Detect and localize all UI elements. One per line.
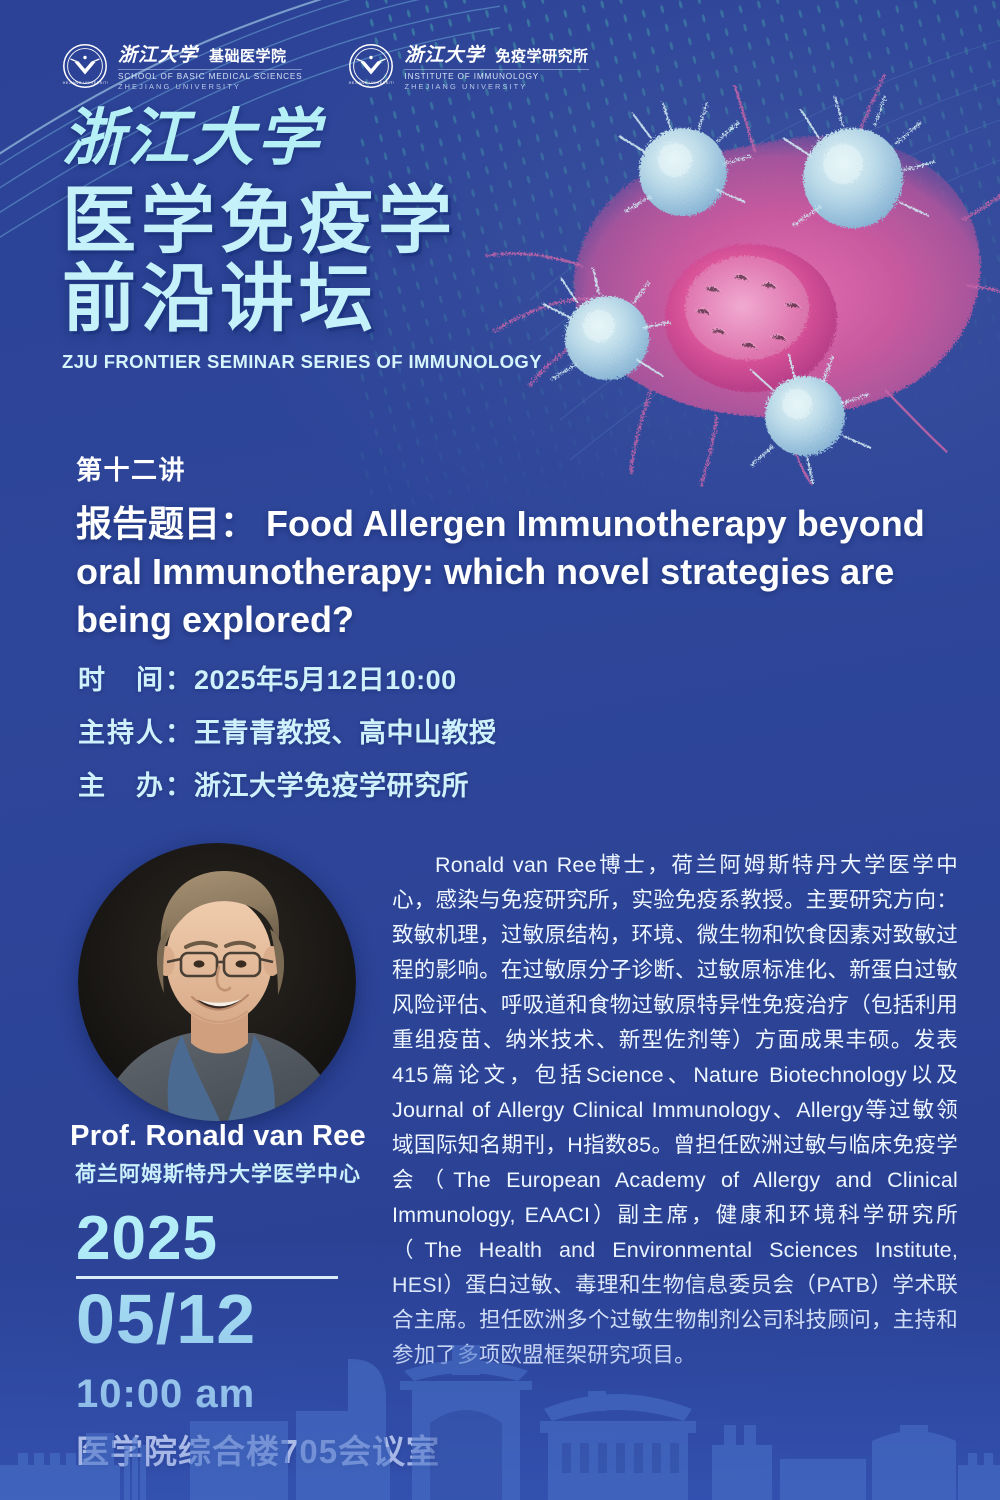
logo-zju-cn: 浙江大学 (404, 40, 484, 67)
lecture-topic: 报告题目： Food Allergen Immunotherapy beyond… (76, 500, 956, 644)
immune-cell-sem-image (455, 60, 1000, 490)
date-divider (76, 1276, 338, 1279)
logo-unit-cn: 基础医学院 (209, 45, 287, 66)
event-meta-list: 时 间： 2025年5月12日10:00 主持人： 王青青教授、高中山教授 主 … (78, 658, 497, 817)
svg-text:ZHEJIANG UNIVERSITY: ZHEJIANG UNIVERSITY (62, 81, 108, 85)
meta-value-organizer: 浙江大学免疫学研究所 (194, 764, 469, 803)
logo-zju-cn: 浙江大学 (118, 40, 198, 67)
header-logo-bar: ZHEJIANG UNIVERSITY 浙江大学 基础医学院 SCHOOL OF… (62, 40, 589, 91)
meta-label-time: 时 间： (78, 658, 194, 697)
svg-text:ZHEJIANG UNIVERSITY: ZHEJIANG UNIVERSITY (348, 81, 394, 85)
brand-title-block: 浙江大学 医学免疫学 前沿讲坛 ZJU FRONTIER SEMINAR SER… (62, 108, 532, 373)
brand-english-subtitle: ZJU FRONTIER SEMINAR SERIES OF IMMUNOLOG… (62, 351, 532, 373)
event-month-day: 05/12 (76, 1283, 338, 1357)
brand-script-zju: 浙江大学 (62, 108, 532, 170)
logo-en-line2: ZHEJIANG UNIVERSITY (118, 82, 302, 91)
logo-en-line2: ZHEJIANG UNIVERSITY (404, 82, 588, 91)
event-date-block: 2025 05/12 (76, 1208, 338, 1357)
brand-main-line1: 医学免疫学 (62, 182, 532, 260)
speaker-portrait (78, 843, 356, 1121)
logo-en-line1: SCHOOL OF BASIC MEDICAL SCIENCES (118, 69, 302, 81)
speaker-photo-wrap (78, 843, 356, 1121)
logo-institute-of-immunology: ZHEJIANG UNIVERSITY 浙江大学 免疫学研究所 INSTITUT… (348, 40, 588, 91)
lecture-number-label: 第十二讲 (76, 450, 186, 487)
meta-value-host: 王青青教授、高中山教授 (194, 711, 497, 750)
meta-value-time: 2025年5月12日10:00 (194, 658, 457, 697)
meta-row-host: 主持人： 王青青教授、高中山教授 (78, 711, 497, 750)
brand-main-line2: 前沿讲坛 (62, 260, 532, 338)
speaker-bio: Ronald van Ree博士，荷兰阿姆斯特丹大学医学中心，感染与免疫研究所，… (392, 848, 958, 1373)
event-year: 2025 (76, 1208, 338, 1270)
speaker-affiliation: 荷兰阿姆斯特丹大学医学中心 (48, 1158, 388, 1188)
zju-seal-icon: ZHEJIANG UNIVERSITY (62, 43, 108, 89)
meta-row-time: 时 间： 2025年5月12日10:00 (78, 658, 497, 697)
poster-root: ZHEJIANG UNIVERSITY 浙江大学 基础医学院 SCHOOL OF… (0, 0, 1000, 1500)
meta-label-organizer: 主 办： (78, 764, 194, 803)
event-venue: 医学院综合楼705会议室 (76, 1425, 440, 1473)
meta-row-organizer: 主 办： 浙江大学免疫学研究所 (78, 764, 497, 803)
zju-seal-icon: ZHEJIANG UNIVERSITY (348, 43, 394, 89)
meta-label-host: 主持人： (78, 711, 194, 750)
event-time: 10:00 am (76, 1372, 255, 1417)
logo-school-of-basic-medical-sciences: ZHEJIANG UNIVERSITY 浙江大学 基础医学院 SCHOOL OF… (62, 40, 302, 91)
brand-main-title: 医学免疫学 前沿讲坛 (62, 182, 532, 339)
logo-en-line1: INSTITUTE OF IMMUNOLOGY (404, 69, 588, 81)
logo-unit-cn: 免疫学研究所 (495, 45, 588, 66)
speaker-name: Prof. Ronald van Ree (48, 1120, 388, 1153)
